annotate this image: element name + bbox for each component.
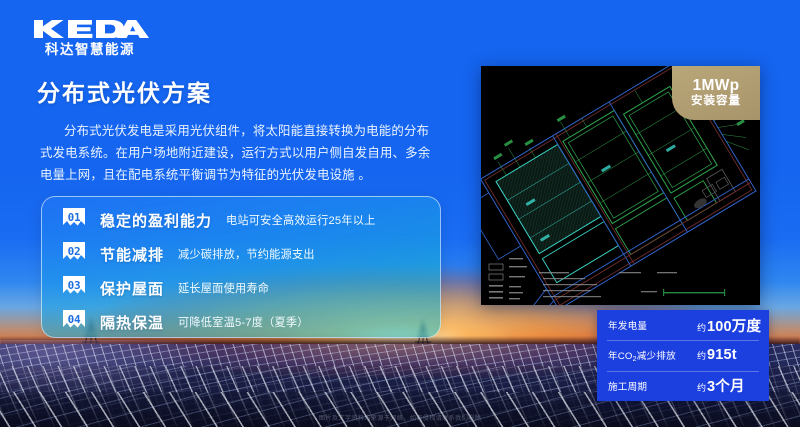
stat-row-co2-reduction: 年CO2减少排放 约915t <box>597 340 769 370</box>
feature-desc: 延长屋面使用寿命 <box>178 280 269 296</box>
shield-ribbon-icon: 03 <box>62 275 86 301</box>
stat-row-annual-generation: 年发电量 约100万度 <box>597 310 769 340</box>
stat-number: 915t <box>707 347 737 363</box>
capacity-value: 1MWp <box>693 77 740 94</box>
feature-title: 保护屋面 <box>100 278 164 299</box>
feature-number: 03 <box>62 279 86 292</box>
capacity-badge: 1MWp 安装容量 <box>672 66 760 120</box>
stat-number: 100万度 <box>707 319 761 335</box>
keda-logo-icon <box>30 18 150 40</box>
stat-number: 3个月 <box>707 379 745 395</box>
feature-title: 节能减排 <box>100 244 164 265</box>
feature-desc: 电站可安全高效运行25年以上 <box>226 212 376 228</box>
feature-desc: 减少碳排放，节约能源支出 <box>178 246 315 262</box>
brand-name-cn: 科达智慧能源 <box>30 42 150 57</box>
stat-row-construction-period: 施工周期 约3个月 <box>597 371 769 401</box>
feature-list-panel: 01 稳定的盈利能力 电站可安全高效运行25年以上 02 节能减排 减少碳排放，… <box>41 196 441 338</box>
feature-item-04[interactable]: 04 隔热保温 可降低室温5-7度（夏季） <box>62 309 309 335</box>
footer-disclaimer: 图片及文字资料均来源于网络，如有侵权请联系我们删除 <box>0 413 800 422</box>
feature-desc: 可降低室温5-7度（夏季） <box>178 314 309 330</box>
feature-item-03[interactable]: 03 保护屋面 延长屋面使用寿命 <box>62 275 269 301</box>
stats-panel: 年发电量 约100万度 年CO2减少排放 约915t 施工周期 约3个月 <box>597 310 769 401</box>
stat-label-sub: 2 <box>633 356 637 363</box>
intro-paragraph: 分布式光伏发电是采用光伏组件，将太阳能直接转换为电能的分布式发电系统。在用户场地… <box>40 120 440 186</box>
stat-prefix: 约 <box>697 351 706 361</box>
stat-label: 年CO2减少排放 <box>608 348 676 362</box>
stat-value: 约3个月 <box>697 375 745 396</box>
feature-number: 01 <box>62 211 86 224</box>
feature-title: 隔热保温 <box>100 312 164 333</box>
stat-value: 约100万度 <box>697 315 761 336</box>
shield-ribbon-icon: 02 <box>62 241 86 267</box>
stat-label: 施工周期 <box>608 379 647 393</box>
shield-ribbon-icon: 01 <box>62 207 86 233</box>
feature-item-02[interactable]: 02 节能减排 减少碳排放，节约能源支出 <box>62 241 315 267</box>
slide-root: 科达智慧能源 分布式光伏方案 分布式光伏发电是采用光伏组件，将太阳能直接转换为电… <box>0 0 800 427</box>
page-title: 分布式光伏方案 <box>37 74 212 108</box>
stat-value: 约915t <box>697 347 737 363</box>
feature-number: 04 <box>62 313 86 326</box>
shield-ribbon-icon: 04 <box>62 309 86 335</box>
stat-label-tail: 减少排放 <box>637 351 676 362</box>
brand-logo: 科达智慧能源 <box>30 18 150 57</box>
stat-prefix: 约 <box>697 323 706 333</box>
feature-item-01[interactable]: 01 稳定的盈利能力 电站可安全高效运行25年以上 <box>62 207 376 233</box>
feature-number: 02 <box>62 245 86 258</box>
capacity-label: 安装容量 <box>691 94 741 109</box>
stat-label-main: 年CO <box>608 351 633 362</box>
stat-label: 年发电量 <box>608 318 647 332</box>
stat-prefix: 约 <box>697 383 706 393</box>
feature-title: 稳定的盈利能力 <box>100 210 212 231</box>
